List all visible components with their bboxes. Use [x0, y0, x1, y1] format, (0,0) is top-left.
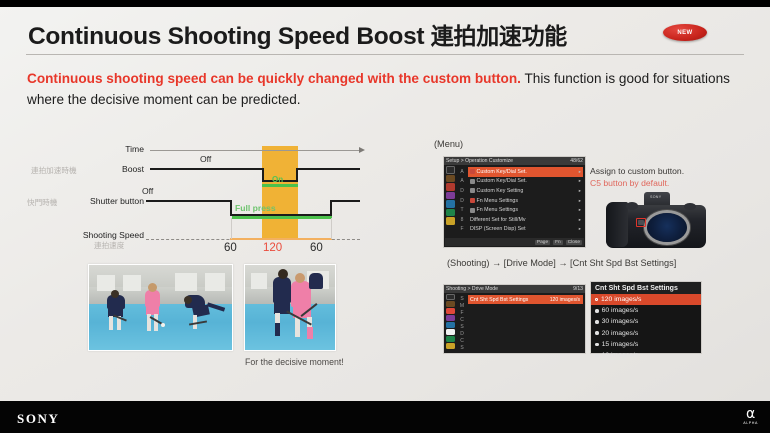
- menu-row-icon: [470, 179, 475, 184]
- alpha-glyph: α: [743, 408, 758, 421]
- menu-row-different-set-still-mv[interactable]: Different Set for Still/Mv ▸: [468, 215, 583, 225]
- speed-value-60-after: 60: [310, 242, 323, 254]
- boost-off-label: Off: [200, 154, 211, 164]
- menu2-breadcrumb-bar: Shooting > Drive Mode 9/13: [444, 285, 585, 293]
- menu-subtab-item[interactable]: F: [457, 225, 467, 235]
- speed-value-120: 120: [263, 242, 282, 254]
- menu-tab-playback[interactable]: [446, 200, 455, 208]
- footer-close-button[interactable]: Close: [566, 240, 582, 245]
- speed-value-60-before: 60: [224, 242, 237, 254]
- shutter-label-cjk: 快門時機: [27, 197, 57, 208]
- radio-icon: [595, 309, 599, 313]
- menu-row-label: Different Set for Still/Mv: [470, 217, 526, 223]
- menu-section-label: (Menu): [434, 139, 463, 149]
- photo2-player-pink-leg-a: [295, 317, 300, 337]
- boost-on-greenbar: [262, 184, 298, 187]
- chevron-right-icon: ▸: [579, 178, 581, 184]
- photo-ball: [161, 323, 165, 327]
- menu-subtab-column[interactable]: A A D D T 8 F: [457, 167, 467, 238]
- photo2-player-extra: [309, 273, 323, 289]
- menu2-tab-setup[interactable]: [446, 343, 455, 349]
- menu-screenshot-drive-mode[interactable]: Shooting > Drive Mode 9/13 S M F C S D C…: [443, 284, 586, 354]
- popup-option-label: 120 images/s: [601, 296, 641, 303]
- chevron-right-icon: ▸: [579, 207, 581, 213]
- menu2-subtab-item[interactable]: S: [457, 295, 467, 302]
- menu-tab-exposure[interactable]: [446, 183, 455, 191]
- menu2-tab-focus[interactable]: [446, 315, 455, 321]
- menu2-subtab-item[interactable]: C: [457, 316, 467, 323]
- photo2-turf: [245, 304, 335, 350]
- photo2-player-navy-torso: [273, 277, 291, 303]
- photo-window-4: [205, 273, 225, 291]
- popup-option-label: 15 images/s: [602, 341, 639, 348]
- full-press-label: Full press: [235, 203, 276, 213]
- diagram-time-label: Time: [104, 144, 144, 154]
- menu-tab-focus[interactable]: [446, 192, 455, 200]
- chevron-right-icon: ▸: [579, 169, 581, 175]
- shutter-label: Shutter button: [70, 196, 144, 206]
- boost-signal-right: [296, 168, 360, 170]
- speed-label: Shooting Speed: [58, 230, 144, 240]
- c5-button-highlight: [636, 218, 646, 227]
- photos-caption: For the decisive moment!: [245, 357, 344, 367]
- menu-subtab-item[interactable]: T: [457, 205, 467, 215]
- speed-tick-left: [231, 218, 232, 239]
- popup-option-label: 20 images/s: [602, 330, 639, 337]
- boost-signal-left: [150, 168, 262, 170]
- photo-window-2: [123, 275, 141, 291]
- menu-subtab-item[interactable]: D: [457, 186, 467, 196]
- new-badge: NEW: [663, 24, 707, 41]
- alpha-logo: α ALPHA: [743, 408, 758, 425]
- menu-row-fn-menu-settings-1[interactable]: Fn Menu Settings ▸: [468, 196, 583, 206]
- menu2-subtab-item[interactable]: C: [457, 337, 467, 344]
- title-divider: [26, 54, 744, 55]
- time-axis: [150, 150, 360, 151]
- camera-body-image: SONY: [606, 192, 706, 248]
- chevron-right-icon: ▸: [579, 217, 581, 223]
- timing-diagram: Time 連拍加速時機 Boost Off On 快門時機 Shutter bu…: [22, 138, 412, 253]
- photo2-player-pink-head: [295, 273, 305, 283]
- menu2-tab-exposure[interactable]: [446, 308, 455, 314]
- speed-level-line: [230, 238, 332, 240]
- radio-selected-icon: [595, 298, 598, 301]
- chevron-right-icon: ▸: [579, 226, 581, 232]
- menu2-breadcrumb: Shooting > Drive Mode: [446, 286, 498, 292]
- menu2-item-list[interactable]: Cnt Sht Spd Bst Settings 120 images/s: [468, 295, 583, 304]
- menu-row-icon: [470, 169, 475, 174]
- radio-icon: [595, 331, 599, 335]
- menu2-page-indicator: 9/13: [573, 286, 583, 292]
- shutter-signal-right: [330, 200, 360, 202]
- popup-option-30[interactable]: 30 images/s: [591, 316, 701, 327]
- camera-grip: [606, 202, 628, 247]
- menu2-tab-color[interactable]: [446, 322, 455, 328]
- boost-label-cjk: 連拍加速時機: [31, 165, 77, 176]
- popup-option-label: 30 images/s: [602, 318, 639, 325]
- popup-option-15[interactable]: 15 images/s: [591, 339, 701, 350]
- boost-signal-rise: [296, 168, 298, 182]
- menu-tab-network[interactable]: [446, 209, 455, 217]
- chevron-right-icon: ▸: [579, 188, 581, 194]
- photo-decisive-moment: [244, 264, 336, 351]
- photo2-window-1: [251, 273, 267, 289]
- menu-item-list[interactable]: Custom Key/Dial Set. ▸ Custom Key/Dial S…: [468, 167, 583, 234]
- menu2-subtab-item[interactable]: S: [457, 323, 467, 330]
- menu-row-label: Fn Menu Settings: [477, 198, 519, 204]
- photo-player-pink-torso: [145, 290, 160, 307]
- photo-window-1: [97, 275, 115, 291]
- popup-option-60[interactable]: 60 images/s: [591, 305, 701, 316]
- popup-option-label: 10 images/s: [602, 352, 639, 359]
- menu-row-label: Custom Key Setting: [477, 188, 524, 194]
- boost-on-label: On: [272, 175, 283, 184]
- menu-row-label: Fn Menu Settings: [477, 207, 519, 213]
- menu2-row-cnt-sht-spd-bst-settings[interactable]: Cnt Sht Spd Bst Settings 120 images/s: [468, 295, 583, 304]
- speed-label-cjk: 連拍速度: [94, 240, 124, 251]
- photo2-player-pink-torso: [291, 281, 311, 307]
- boost-on-band: [262, 146, 298, 240]
- menu-screenshot-setup[interactable]: Setup > Operation Customize 48/62 A A D …: [443, 156, 586, 248]
- settings-path-label: (Shooting) → [Drive Mode] → [Cnt Sht Spd…: [447, 258, 676, 268]
- menu2-tab-shooting[interactable]: [446, 301, 455, 307]
- page-title-en: Continuous Shooting Speed Boost: [28, 23, 424, 50]
- photo-player-navy-2-head: [184, 296, 192, 304]
- photo-before: [88, 264, 233, 351]
- menu-subtab-item[interactable]: A: [457, 167, 467, 177]
- menu-page-indicator: 48/62: [570, 158, 583, 164]
- menu-tab-setup[interactable]: [446, 217, 455, 225]
- footer-fn-button[interactable]: Fn: [553, 240, 563, 245]
- menu2-subtab-item[interactable]: D: [457, 330, 467, 337]
- camera-brand-text: SONY: [650, 195, 661, 199]
- menu-subtab-item[interactable]: D: [457, 196, 467, 206]
- menu2-row-value: 120 images/s: [550, 297, 580, 303]
- menu2-row-label: Cnt Sht Spd Bst Settings: [470, 297, 528, 303]
- photo2-player-navy-head: [278, 269, 288, 279]
- footer-page-button[interactable]: Page: [535, 240, 550, 245]
- page-title: Continuous Shooting Speed Boost 連拍加速功能: [28, 17, 567, 51]
- radio-icon: [595, 343, 599, 347]
- slide-root: Continuous Shooting Speed Boost 連拍加速功能 N…: [0, 0, 770, 433]
- menu-breadcrumb-bar: Setup > Operation Customize 48/62: [444, 157, 585, 165]
- menu-row-label: DISP (Screen Disp) Set: [470, 226, 526, 232]
- alpha-logo-text: ALPHA: [743, 421, 758, 425]
- cnt-sht-spd-bst-settings-popup[interactable]: Cnt Sht Spd Bst Settings 120 images/s 60…: [590, 281, 702, 354]
- shutter-signal-left: [146, 200, 232, 202]
- footer-bar: SONY α ALPHA: [0, 401, 770, 433]
- menu2-subtab-item[interactable]: M: [457, 302, 467, 309]
- menu2-subtab-item[interactable]: S: [457, 344, 467, 351]
- full-press-greenbar: [232, 216, 332, 219]
- lead-highlight: Continuous shooting speed can be quickly…: [27, 71, 521, 86]
- default-button-note: C5 button by default.: [590, 178, 669, 188]
- menu-tab-shooting[interactable]: [446, 175, 455, 183]
- photo2-player-navy-sock: [275, 323, 280, 336]
- popup-option-label: 60 images/s: [602, 307, 639, 314]
- popup-title: Cnt Sht Spd Bst Settings: [591, 282, 701, 294]
- menu-subtab-item[interactable]: 8: [457, 215, 467, 225]
- photo2-player-pink-sock: [307, 327, 313, 339]
- menu-row-custom-key-dial-set-1[interactable]: Custom Key/Dial Set. ▸: [468, 167, 583, 177]
- new-badge-label: NEW: [677, 30, 692, 36]
- popup-option-120[interactable]: 120 images/s: [591, 294, 701, 305]
- popup-option-10[interactable]: 10 images/s: [591, 350, 701, 361]
- menu2-subtab-item[interactable]: F: [457, 309, 467, 316]
- menu-breadcrumb: Setup > Operation Customize: [446, 158, 513, 164]
- menu-tab-sidebar[interactable]: [445, 166, 456, 238]
- menu-row-disp-screen-disp-set[interactable]: DISP (Screen Disp) Set ▸: [468, 225, 583, 235]
- menu-row-custom-key-dial-set-2[interactable]: Custom Key/Dial Set. ▸: [468, 177, 583, 187]
- menu-row-custom-key-setting[interactable]: Custom Key Setting ▸: [468, 186, 583, 196]
- menu2-tab-drive-active[interactable]: [446, 329, 455, 335]
- popup-option-20[interactable]: 20 images/s: [591, 328, 701, 339]
- sony-logo: SONY: [17, 411, 60, 427]
- shutter-off-label: Off: [142, 186, 153, 196]
- radio-icon: [595, 320, 599, 324]
- menu2-tab-network[interactable]: [446, 336, 455, 342]
- menu-row-label: Custom Key/Dial Set.: [477, 178, 527, 184]
- photo-player-navy-1-leg-a: [109, 316, 113, 330]
- camera-dial-left: [626, 202, 638, 210]
- photo-player-pink-head: [148, 283, 157, 292]
- photo-player-navy-1-head: [111, 290, 119, 298]
- menu-footer-bar: Page Fn Close: [445, 238, 584, 246]
- menu-subtab-item[interactable]: A: [457, 177, 467, 187]
- menu-row-icon: [470, 198, 475, 203]
- assign-note: Assign to custom button.: [590, 166, 684, 176]
- radio-icon: [595, 354, 599, 358]
- time-axis-arrow: [359, 147, 365, 153]
- chevron-right-icon: ▸: [579, 198, 581, 204]
- boost-label: Boost: [100, 164, 144, 174]
- menu-row-icon: [470, 208, 475, 213]
- shutter-signal-rise: [330, 200, 332, 216]
- lead-paragraph: Continuous shooting speed can be quickly…: [27, 68, 743, 110]
- speed-tick-right: [331, 218, 332, 239]
- menu-row-fn-menu-settings-2[interactable]: Fn Menu Settings ▸: [468, 205, 583, 215]
- menu-tab-favorites[interactable]: [446, 166, 455, 174]
- menu2-tab-sidebar[interactable]: [445, 294, 456, 352]
- top-black-band: [0, 0, 770, 7]
- menu2-tab-favorites[interactable]: [446, 294, 455, 300]
- menu-row-icon: [470, 188, 475, 193]
- menu2-subtab-column[interactable]: S M F C S D C S: [457, 295, 467, 352]
- photo-window-3: [175, 273, 197, 291]
- menu-row-label: Custom Key/Dial Set.: [477, 169, 527, 175]
- page-title-cjk: 連拍加速功能: [431, 24, 567, 50]
